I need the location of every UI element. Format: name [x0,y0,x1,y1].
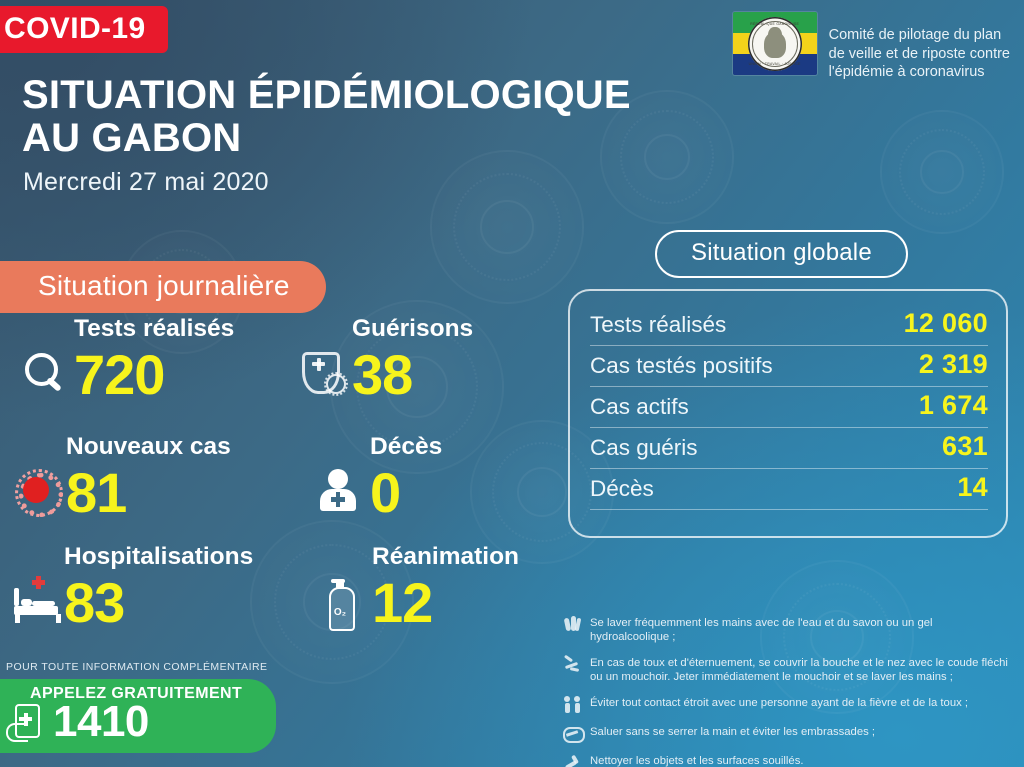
list-item: Se laver fréquemment les mains avec de l… [562,614,1014,645]
stat-label: Tests réalisés [74,315,234,343]
seal-figure [764,32,786,58]
list-item: Saluer sans se serrer la main et éviter … [562,723,1014,743]
committee-line2: de veille et de riposte contre [829,45,1010,64]
hotline-number-row: 1410 [6,700,149,744]
stat-label: Guérisons [352,315,473,343]
row-value: 1 674 [919,390,988,421]
global-situation-table: Tests réalisés 12 060 Cas testés positif… [590,305,988,510]
committee-branding: RÉPUBLIQUE GABONAISE UNION · TRAVAIL · J… [733,12,1010,82]
seal-bottom-text: UNION · TRAVAIL · JUSTICE [748,62,802,66]
row-value: 14 [957,472,988,503]
table-row: Cas guéris 631 [590,428,988,469]
seal-top-text: RÉPUBLIQUE GABONAISE [748,22,802,26]
row-label: Décès [590,476,654,502]
page-title-line2: AU GABON [22,117,631,160]
list-item: Nettoyer les objets et les surfaces soui… [562,752,1014,767]
stat-value: 0 [370,465,400,521]
table-row: Décès 14 [590,469,988,510]
row-label: Cas actifs [590,394,689,420]
hotline-intro-text: POUR TOUTE INFORMATION COMPLÉMENTAIRE [6,661,267,673]
global-situation-header: Situation globale [655,230,908,278]
committee-line1: Comité de pilotage du plan [829,26,1010,45]
row-value: 12 060 [904,308,988,339]
page-title: SITUATION ÉPIDÉMIOLOGIQUE AU GABON [22,74,631,160]
prevention-text: Nettoyer les objets et les surfaces soui… [590,752,803,767]
stat-label: Réanimation [372,543,519,571]
prevention-text: Éviter tout contact étroit avec une pers… [590,694,968,710]
clean-surface-icon [562,752,582,767]
prevention-tips-list: Se laver fréquemment les mains avec de l… [562,614,1014,767]
wash-hands-icon [562,614,582,634]
table-row: Tests réalisés 12 060 [590,305,988,346]
row-label: Cas testés positifs [590,353,773,379]
person-cross-icon [318,467,366,515]
stat-value: 38 [352,347,412,403]
covid-infographic-poster: COVID-19 SITUATION ÉPIDÉMIOLOGIQUE AU GA… [0,0,1024,767]
stat-label: Nouveaux cas [66,433,231,461]
table-row: Cas testés positifs 2 319 [590,346,988,387]
gabon-flag-icon: RÉPUBLIQUE GABONAISE UNION · TRAVAIL · J… [733,12,817,75]
oxygen-tank-icon: O₂ [320,577,368,625]
row-label: Cas guéris [590,435,698,461]
stat-label: Hospitalisations [64,543,253,571]
committee-line3: l'épidémie à coronavirus [829,63,1010,82]
list-item: En cas de toux et d'éternuement, se couv… [562,654,1014,685]
row-value: 2 319 [919,349,988,380]
prevention-text: Se laver fréquemment les mains avec de l… [590,614,1014,645]
row-label: Tests réalisés [590,312,726,338]
table-row: Cas actifs 1 674 [590,387,988,428]
virus-icon [14,467,62,515]
stat-value: 720 [74,347,164,403]
committee-name: Comité de pilotage du plan de veille et … [829,12,1010,82]
cough-elbow-icon [562,654,582,674]
stat-value: 81 [66,465,126,521]
list-item: Éviter tout contact étroit avec une pers… [562,694,1014,714]
stat-value: 83 [64,575,124,631]
covid19-badge: COVID-19 [0,6,168,53]
distance-icon [562,694,582,714]
virus-watermark [880,110,1004,234]
shield-recovery-icon [300,349,348,397]
virus-watermark [430,150,584,304]
prevention-text: Saluer sans se serrer la main et éviter … [590,723,875,739]
page-title-line1: SITUATION ÉPIDÉMIOLOGIQUE [22,74,631,117]
prevention-text: En cas de toux et d'éternuement, se couv… [590,654,1014,685]
report-date: Mercredi 27 mai 2020 [23,168,269,197]
no-handshake-icon [562,723,582,743]
stat-label: Décès [370,433,442,461]
row-value: 631 [942,431,988,462]
hand-phone-cross-icon [6,702,46,742]
stat-value: 12 [372,575,432,631]
coat-of-arms-seal-icon: RÉPUBLIQUE GABONAISE UNION · TRAVAIL · J… [748,17,802,71]
magnifier-icon [22,349,70,397]
daily-situation-header: Situation journalière [0,261,326,313]
hotline-number: 1410 [53,700,149,744]
hotline-badge[interactable]: APPELEZ GRATUITEMENT 1410 [0,679,276,753]
hospital-bed-icon [12,577,60,625]
